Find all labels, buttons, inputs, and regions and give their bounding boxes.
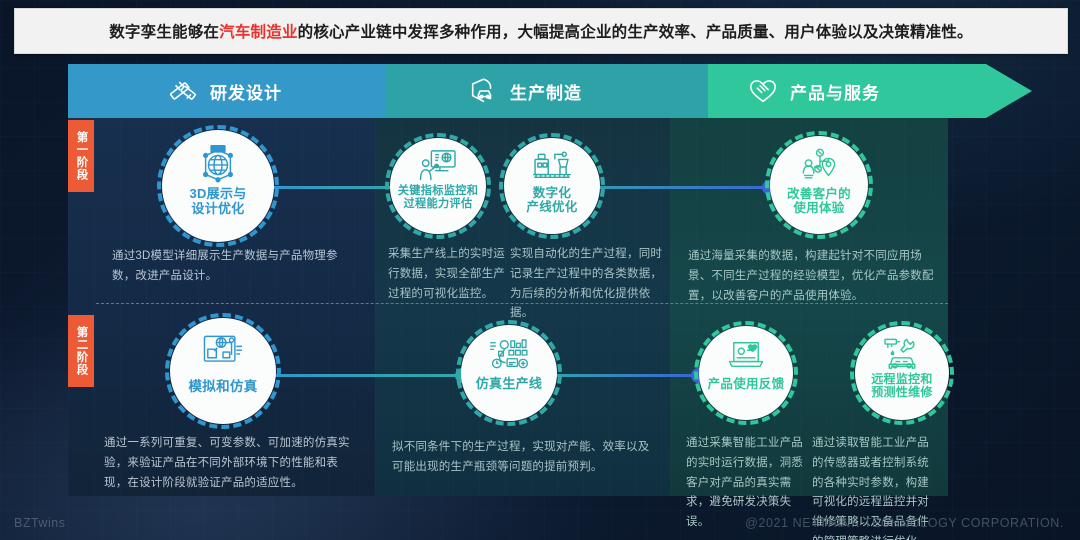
phase-arrow-2 — [386, 64, 756, 118]
node-desc-improve-customer-experience: 通过海量采集的数据，构建起针对不同应用场景、不同生产过程的经验模型，优化产品参数… — [688, 247, 936, 306]
node-improve-customer-experience[interactable]: 改善客户的 使用体验 — [770, 136, 868, 234]
phase-arrow-1 — [68, 64, 434, 118]
node-title-line: 产品使用反馈 — [708, 377, 785, 391]
node-desc-kpi-monitoring: 采集生产线上的实时运行数据，实现全部生产过程的可视化监控。 — [388, 245, 508, 304]
node-title-line: 设计优化 — [189, 202, 246, 217]
headline-text: 数字孪生能够在汽车制造业的核心产业链中发挥多种作用，大幅提高企业的生产效率、产品… — [109, 20, 973, 42]
node-title-line: 过程能力评估 — [398, 198, 478, 211]
node-digital-line-optimization[interactable]: 数字化 产线优化 — [504, 138, 600, 234]
node-desc-simulation: 通过一系列可重复、可变参数、可加速的仿真实验，来验证产品在不同外部环境下的性能和… — [104, 434, 354, 493]
simulation-screen-icon — [202, 334, 244, 372]
slide-canvas: 数字孪生能够在汽车制造业的核心产业链中发挥多种作用，大幅提高企业的生产效率、产品… — [0, 0, 1080, 540]
node-remote-monitoring-maintenance[interactable]: 远程监控和 预测性维修 — [855, 326, 949, 420]
node-title-line: 模拟和仿真 — [189, 379, 258, 394]
node-title-line: 预测性维修 — [871, 386, 933, 399]
node-desc-simulated-production-line: 拟不同条件下的生产过程，实现对产能、效率以及可能出现的生产瓶颈等问题的提前预判。 — [392, 438, 652, 478]
headline-text-before: 数字孪生能够在 — [109, 24, 219, 41]
stage-badge-1-text: 第一阶段 — [75, 131, 88, 181]
node-title-line: 使用体验 — [787, 201, 851, 215]
3d-model-globe-icon: 3D — [197, 144, 239, 184]
node-kpi-monitoring[interactable]: 关键指标监控和 过程能力评估 — [390, 138, 486, 234]
stage-badge-2: 第二阶段 — [68, 315, 94, 387]
phase-arrow-shapes — [68, 62, 1032, 120]
node-title-line: 改善客户的 — [787, 187, 851, 201]
footer-copyright: @2021 NETTHINK TECHNOLOGY CORPORATION. — [745, 516, 1064, 530]
node-title-line: 3D展示与 — [189, 187, 246, 202]
laptop-heart-feedback-icon — [727, 339, 765, 371]
phase-arrow-bar: 研发设计 生产制造 产品与服务 — [68, 62, 1032, 120]
node-title-line: 数字化 — [526, 186, 577, 200]
customer-location-network-icon — [799, 148, 839, 184]
phase-arrow-3 — [708, 64, 1032, 118]
connector-n6-n7 — [538, 374, 698, 377]
node-desc-digital-line-optimization: 实现自动化的生产过程，同时记录生产过程中的各类数据，为后续的分析和优化提供依据。 — [510, 245, 665, 324]
node-simulated-production-line[interactable]: 仿真生产线 — [461, 325, 557, 421]
stage-badge-1: 第一阶段 — [68, 120, 94, 192]
headline-banner: 数字孪生能够在汽车制造业的核心产业链中发挥多种作用，大幅提高企业的生产效率、产品… — [14, 8, 1068, 54]
node-title-line: 关键指标监控和 — [398, 185, 478, 198]
car-wrench-maintenance-icon — [882, 337, 922, 371]
monitor-person-analytics-icon — [419, 149, 457, 183]
connector-n5-n6 — [253, 374, 461, 377]
stage-badge-2-text: 第二阶段 — [75, 326, 88, 376]
footer-brand: BZTwins — [14, 516, 65, 530]
node-3d-display[interactable]: 3D 3D展示与 设计优化 — [162, 130, 274, 242]
node-desc-3d-display: 通过3D模型详细展示生产数据与产品物理参数，改进产品设计。 — [112, 247, 354, 287]
node-title-line: 仿真生产线 — [476, 377, 543, 392]
production-line-icon — [532, 151, 572, 183]
node-product-usage-feedback[interactable]: 产品使用反馈 — [699, 326, 793, 420]
node-title-line: 产线优化 — [526, 200, 577, 214]
headline-text-after: 的核心产业链中发挥多种作用，大幅提高企业的生产效率、产品质量、用户体验以及决策精… — [298, 24, 973, 41]
headline-highlight: 汽车制造业 — [219, 24, 298, 41]
node-simulation[interactable]: 模拟和仿真 — [170, 318, 276, 424]
robotic-arm-dashboard-icon — [488, 339, 530, 371]
